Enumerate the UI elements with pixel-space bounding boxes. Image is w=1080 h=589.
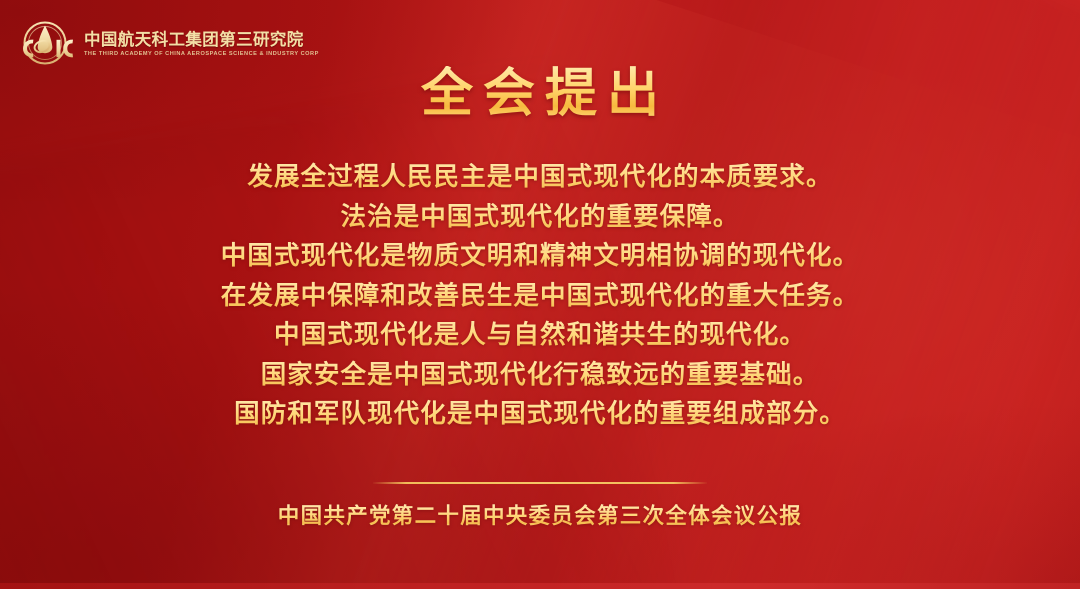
statement-line: 发展全过程人民民主是中国式现代化的本质要求。	[0, 158, 1080, 198]
background-bottom-strip	[0, 583, 1080, 589]
statement-line: 国防和军队现代化是中国式现代化的重要组成部分。	[0, 395, 1080, 435]
statement-line: 国家安全是中国式现代化行稳致远的重要基础。	[0, 356, 1080, 396]
brand-text-block: 中国航天科工集团第三研究院 THE THIRD ACADEMY OF CHINA…	[84, 30, 319, 57]
statement-list: 发展全过程人民民主是中国式现代化的本质要求。 法治是中国式现代化的重要保障。 中…	[0, 158, 1080, 435]
statement-line: 在发展中保障和改善民生是中国式现代化的重大任务。	[0, 277, 1080, 317]
gold-divider	[373, 482, 707, 484]
brand-name-en: THE THIRD ACADEMY OF CHINA AEROSPACE SCI…	[84, 52, 319, 58]
poster-title: 全会提出	[0, 66, 1080, 122]
statement-line: 法治是中国式现代化的重要保障。	[0, 198, 1080, 238]
poster-footer: 中国共产党第二十届中央委员会第三次全体会议公报	[0, 503, 1080, 531]
statement-line: 中国式现代化是人与自然和谐共生的现代化。	[0, 316, 1080, 356]
statement-line: 中国式现代化是物质文明和精神文明相协调的现代化。	[0, 237, 1080, 277]
poster-title-text: 全会提出	[411, 66, 669, 122]
cosic-emblem-icon	[16, 17, 74, 71]
brand-name-cn: 中国航天科工集团第三研究院	[84, 32, 319, 49]
brand-header: 中国航天科工集团第三研究院 THE THIRD ACADEMY OF CHINA…	[16, 17, 319, 71]
poster-footer-text: 中国共产党第二十届中央委员会第三次全体会议公报	[278, 504, 802, 528]
poster-canvas: 中国航天科工集团第三研究院 THE THIRD ACADEMY OF CHINA…	[0, 0, 1080, 589]
